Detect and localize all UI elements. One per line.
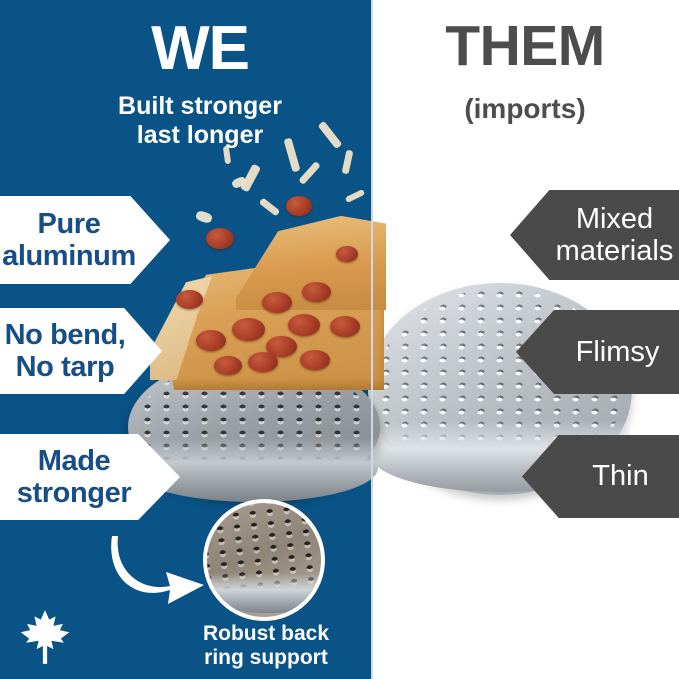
callout-no-bend-no-tarp-text: No bend, No tarp bbox=[5, 319, 126, 384]
infographic-root: WE Built stronger last longer THEM (impo… bbox=[0, 0, 679, 679]
callout-line2: aluminum bbox=[2, 240, 136, 272]
callout-line1: Mixed bbox=[556, 203, 674, 235]
inset-caption: Robust back ring support bbox=[168, 622, 364, 670]
callout-line1: Pure bbox=[2, 208, 136, 240]
panel-divider bbox=[371, 0, 373, 679]
callout-line2: materials bbox=[556, 235, 674, 267]
inset-caption-line2: ring support bbox=[168, 646, 364, 670]
callout-line1: Made bbox=[17, 445, 131, 477]
inset-caption-line1: Robust back bbox=[168, 622, 364, 646]
subtitle-them: (imports) bbox=[400, 94, 650, 125]
subtitle-we: Built stronger last longer bbox=[50, 92, 350, 150]
callout-flimsy-text: Flimsy bbox=[576, 336, 660, 368]
curved-arrow-icon bbox=[108, 528, 212, 608]
perforated-pan-closeup-icon bbox=[203, 499, 325, 621]
callout-thin-text: Thin bbox=[592, 460, 648, 492]
callout-mixed-materials-text: Mixed materials bbox=[556, 203, 674, 268]
callout-pure-aluminum-text: Pure aluminum bbox=[2, 208, 136, 273]
inset-circle bbox=[203, 499, 325, 621]
subtitle-we-line1: Built stronger bbox=[50, 92, 350, 121]
maple-leaf-icon bbox=[18, 608, 72, 666]
page-title-we: WE bbox=[80, 18, 320, 80]
callout-line1: No bend, bbox=[5, 319, 126, 351]
callout-line2: stronger bbox=[17, 477, 131, 509]
callout-made-stronger-text: Made stronger bbox=[17, 445, 131, 510]
subtitle-we-line2: last longer bbox=[50, 121, 350, 150]
callout-line2: No tarp bbox=[5, 351, 126, 383]
page-title-them: THEM bbox=[400, 18, 650, 75]
